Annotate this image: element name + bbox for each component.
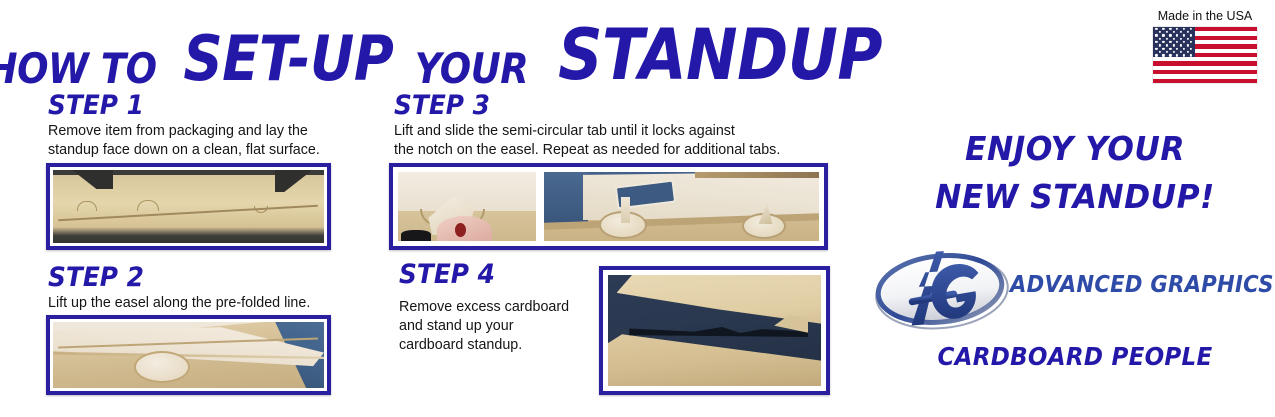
usa-flag-icon [1153,27,1257,83]
made-in-usa-badge: Made in the USA [1146,9,1264,83]
step-2-photo-frame [46,315,331,395]
step-3-title: STEP 3 [394,92,490,119]
brand-tagline: CARDBOARD PEOPLE [896,344,1255,369]
headline-part-4: STANDUP [558,20,882,90]
step-1-photo [53,170,324,243]
ag-monogram-logo [872,238,1012,340]
step-4-title: STEP 4 [399,261,495,288]
headline-part-2: SET-UP [183,28,393,90]
page-title: HOW TO SET-UP YOUR STANDUP [0,4,880,90]
headline-part-3: YOUR [415,48,529,90]
step-3-body: Lift and slide the semi-circular tab unt… [394,122,834,160]
step-2-body: Lift up the easel along the pre-folded l… [48,294,358,313]
step-3-photo-a [396,170,538,243]
step-1-body: Remove item from packaging and lay the s… [48,122,348,160]
step-2-title: STEP 2 [48,264,144,291]
brand-name: ADVANCED GRAPHICS [1010,274,1274,297]
step-4-body: Remove excess cardboard and stand up you… [399,298,599,355]
promo-line-1: ENJOY YOUR [890,132,1261,165]
step-2-photo [53,322,324,388]
step-3-photo-b [542,170,821,243]
step-3-photo-frame [389,163,828,250]
step-1-photo-frame [46,163,331,250]
headline-part-1: HOW TO [0,48,157,90]
step-4-photo [606,273,823,388]
step-4-photo-frame [599,266,830,395]
step-1-title: STEP 1 [48,92,144,119]
promo-line-2: NEW STANDUP! [890,180,1261,213]
made-in-usa-label: Made in the USA [1146,9,1264,23]
